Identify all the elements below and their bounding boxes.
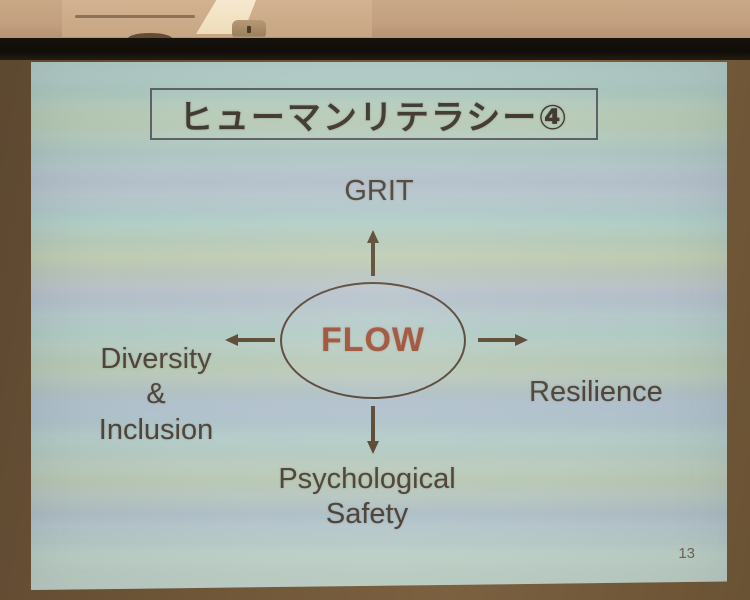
- arrow-left-shaft: [237, 338, 275, 342]
- slide-page-number: 13: [678, 545, 695, 562]
- psych-line-1: Psychological: [237, 462, 497, 497]
- arrow-right-shaft: [478, 338, 517, 342]
- diagram-label-grit: GRIT: [299, 174, 459, 209]
- diversity-line-1: Diversity: [51, 342, 261, 377]
- arrow-down-shaft: [371, 406, 375, 443]
- diversity-line-2: &: [51, 377, 261, 412]
- center-node-ellipse: FLOW: [280, 282, 466, 399]
- psych-line-2: Safety: [237, 497, 497, 532]
- arrow-up-shaft: [371, 240, 375, 276]
- flow-diagram: GRIT Resilience Diversity & Inclusion Ps…: [31, 62, 727, 590]
- arrow-right-icon: [478, 334, 530, 346]
- arrow-up-icon: [367, 230, 379, 276]
- room-scene: ヒューマンリテラシー④ GRIT Resilience Diversity & …: [0, 0, 750, 600]
- smoke-detector-indicator: [247, 26, 251, 33]
- center-node-label: FLOW: [321, 321, 425, 360]
- ceiling-panel-slot: [75, 15, 195, 18]
- ceiling: [0, 0, 750, 42]
- diagram-label-psychological-safety: Psychological Safety: [237, 462, 497, 533]
- diversity-line-3: Inclusion: [51, 413, 261, 448]
- arrow-down-head: [367, 441, 379, 454]
- arrow-left-icon: [225, 334, 275, 346]
- screen-valance: [0, 38, 750, 60]
- arrow-right-head: [515, 334, 528, 346]
- arrow-down-icon: [367, 406, 379, 454]
- diagram-label-resilience: Resilience: [529, 375, 739, 410]
- projection-screen: ヒューマンリテラシー④ GRIT Resilience Diversity & …: [31, 62, 727, 590]
- diagram-label-diversity-inclusion: Diversity & Inclusion: [51, 342, 261, 448]
